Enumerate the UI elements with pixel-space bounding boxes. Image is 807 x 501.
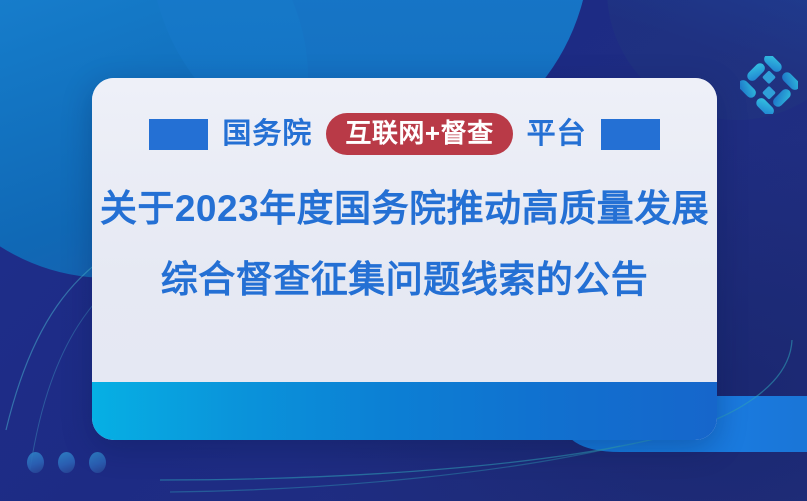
card-body: 国务院 互联网+督查 平台 关于2023年度国务院推动高质量发展 综合督查征集问…	[92, 78, 717, 382]
brand-platform-label: 平台	[527, 120, 587, 149]
announcement-card: 国务院 互联网+督查 平台 关于2023年度国务院推动高质量发展 综合督查征集问…	[92, 78, 717, 440]
brand-bar-right	[601, 119, 660, 150]
brand-bar-left	[149, 119, 208, 150]
title-line-1: 关于2023年度国务院推动高质量发展	[92, 190, 717, 227]
decor-dots	[27, 452, 106, 473]
announcement-title: 关于2023年度国务院推动高质量发展 综合督查征集问题线索的公告	[92, 190, 717, 298]
brand-pill-badge: 互联网+督查	[326, 113, 512, 155]
brand-row: 国务院 互联网+督查 平台	[92, 113, 717, 155]
brand-agency-label: 国务院	[222, 120, 312, 149]
decor-dot	[89, 452, 106, 473]
poster-canvas: 国务院 互联网+督查 平台 关于2023年度国务院推动高质量发展 综合督查征集问…	[0, 0, 807, 501]
diamond-logo	[740, 56, 798, 114]
decor-dot	[58, 452, 75, 473]
card-footer-bar	[92, 382, 717, 440]
decor-dot	[27, 452, 44, 473]
title-line-2: 综合督查征集问题线索的公告	[92, 261, 717, 298]
